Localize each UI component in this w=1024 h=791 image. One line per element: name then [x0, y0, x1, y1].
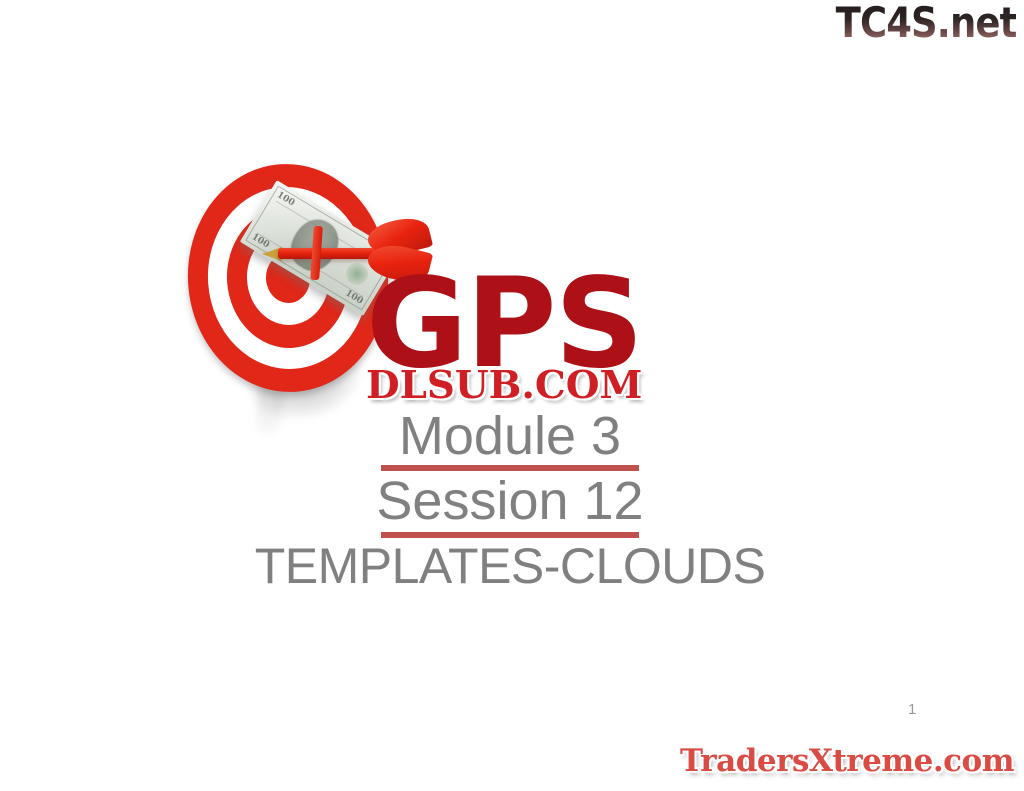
slide-number: 1 [908, 701, 916, 718]
tradersxtreme-watermark: TradersXtreme.com [680, 746, 1014, 777]
subtitle-session: Session 12 [160, 473, 860, 529]
subtitle-topic: TEMPLATES-CLOUDS [160, 540, 860, 592]
dlsub-watermark: DLSUB.COM [366, 366, 642, 404]
dart-crossbar [310, 226, 323, 280]
subtitle-block: Module 3 Session 12 TEMPLATES-CLOUDS [160, 408, 860, 592]
presentation-slide: TC4S.net 100 100 100 100 [0, 0, 1024, 791]
subtitle-module: Module 3 [160, 408, 860, 464]
tc4s-logo: TC4S.net [835, 2, 1016, 44]
